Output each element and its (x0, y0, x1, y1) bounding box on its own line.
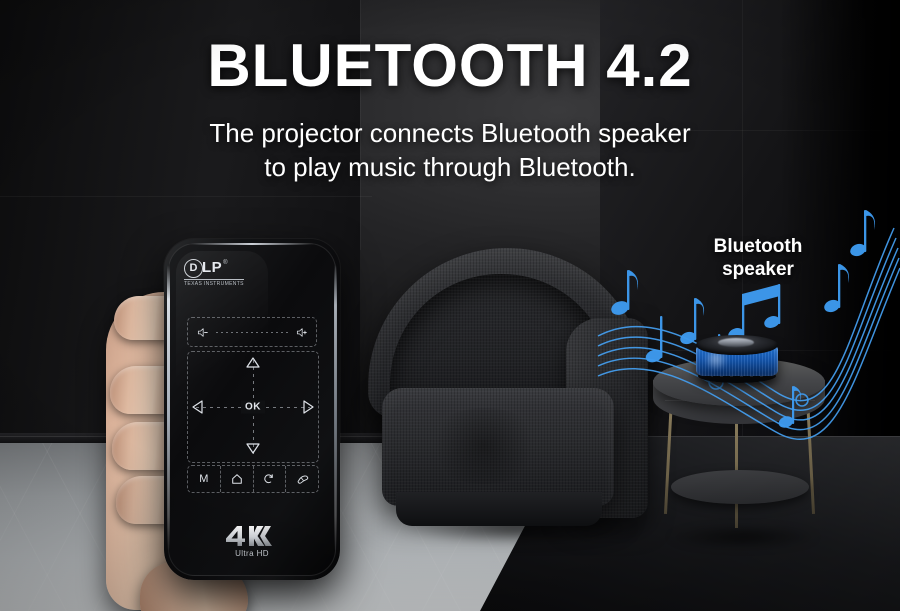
resolution-badge: Ultra HD (224, 525, 280, 558)
volume-row (187, 317, 317, 347)
armchair (360, 240, 660, 540)
bluetooth-speaker (694, 335, 780, 385)
function-button-row: M (187, 465, 319, 493)
subtitle-line2: to play music through Bluetooth. (0, 150, 900, 184)
dlp-logo-text: LP (202, 259, 222, 276)
table-leg (664, 398, 673, 514)
registered-trademark-icon: ® (223, 259, 227, 267)
ok-button[interactable]: OK (241, 401, 265, 414)
table-leg (806, 398, 815, 514)
mouse-mode-button[interactable] (286, 466, 318, 492)
speaker-label: Bluetooth speaker (692, 236, 824, 282)
speaker-label-line1: Bluetooth (692, 236, 824, 259)
table-leg (735, 410, 738, 528)
page-title: BLUETOOTH 4.2 (0, 36, 900, 96)
home-button[interactable] (221, 466, 254, 492)
directional-pad[interactable]: OK (187, 351, 319, 463)
texas-instruments-label: TEXAS INSTRUMENTS (184, 281, 258, 287)
ultra-hd-label: Ultra HD (224, 549, 280, 558)
volume-down-icon[interactable] (197, 327, 208, 338)
dlp-logo-rule (184, 279, 244, 280)
device-chrome-edge-top (190, 243, 314, 245)
menu-button[interactable]: M (188, 466, 221, 492)
dlp-logo: D LP ® TEXAS INSTRUMENTS (184, 259, 258, 287)
dlp-logo-mark: D (184, 259, 203, 278)
volume-divider (216, 332, 288, 333)
product-marketing-banner: Bluetooth speaker D LP ® TEXAS INSTRUMEN… (0, 0, 900, 611)
speaker-label-line2: speaker (692, 259, 824, 282)
arrow-right-icon[interactable] (303, 400, 314, 419)
table-lower-shelf (671, 470, 809, 504)
arrow-up-icon[interactable] (246, 355, 260, 373)
speaker-top-gloss (718, 338, 754, 347)
wall-seam (0, 196, 372, 197)
subtitle-line1: The projector connects Bluetooth speaker (0, 116, 900, 150)
armchair-seat-crease (424, 408, 544, 484)
arrow-down-icon[interactable] (246, 441, 260, 459)
device-chrome-edge-right (334, 265, 337, 551)
back-button[interactable] (254, 466, 287, 492)
device-chrome-edge-left (167, 265, 170, 551)
armchair-base (396, 492, 602, 526)
touchpad-controls[interactable]: OK M (187, 317, 317, 501)
volume-up-icon[interactable] (296, 327, 307, 338)
page-subtitle: The projector connects Bluetooth speaker… (0, 116, 900, 185)
arrow-left-icon[interactable] (192, 400, 203, 419)
4k-logo-icon (224, 525, 280, 547)
portable-projector[interactable]: D LP ® TEXAS INSTRUMENTS (164, 239, 340, 580)
